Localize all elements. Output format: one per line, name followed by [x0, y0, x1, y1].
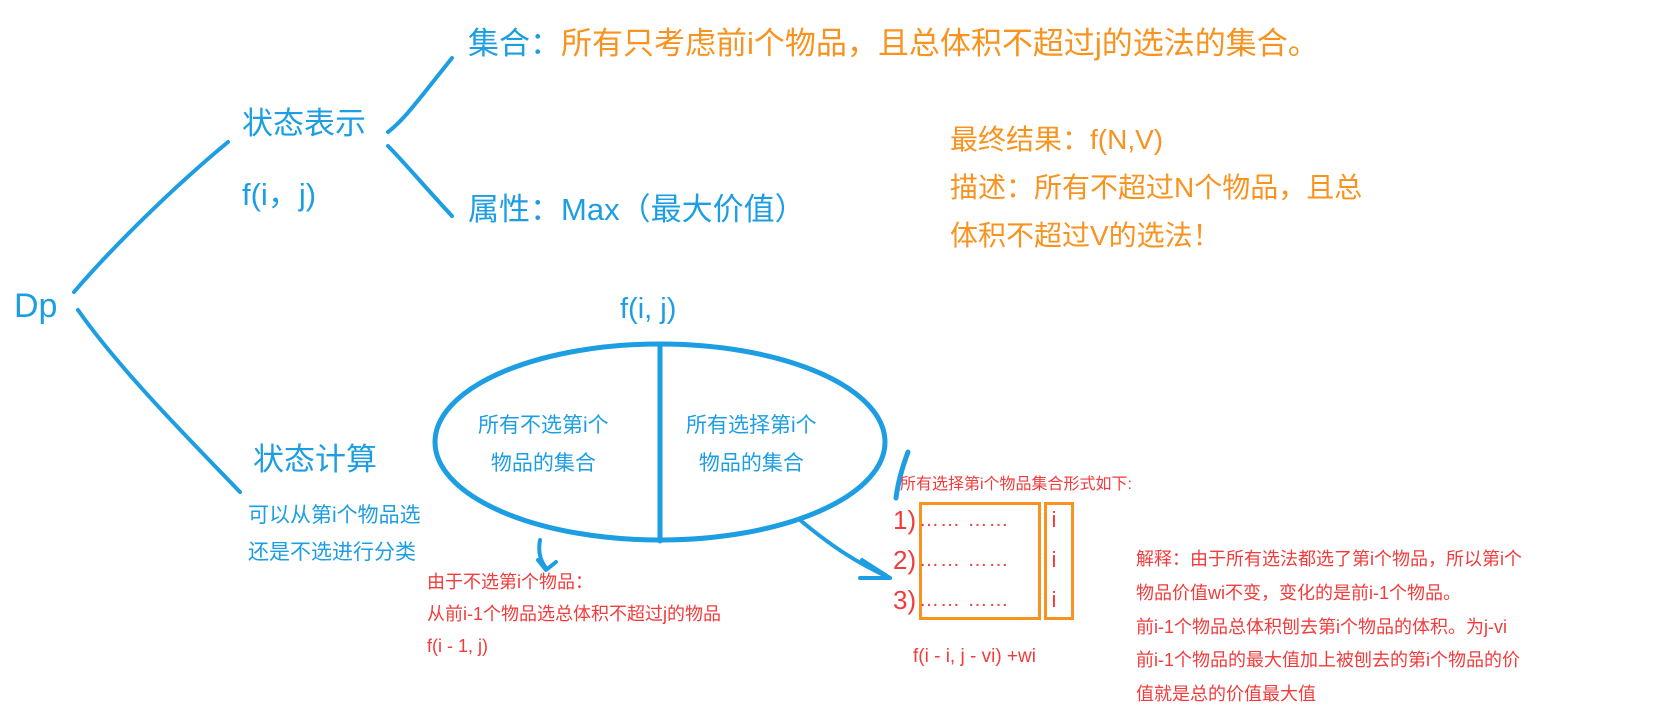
explanation-line-5: 值就是总的价值最大值: [1136, 683, 1522, 707]
choose-panel-title: 所有选择第i个物品集合形式如下:: [900, 474, 1132, 495]
selection-row: 3) …… …… i: [893, 580, 1067, 620]
row-number: 3): [893, 585, 919, 616]
set-definition-value: 所有只考虑前i个物品，且总体积不超过j的选法的集合。: [561, 26, 1319, 61]
state-representation-title: 状态表示: [242, 104, 366, 145]
whiteboard-canvas: Dp 状态表示 f(i，j) 集合：所有只考虑前i个物品，且总体积不超过j的选法…: [0, 0, 1654, 719]
state-calculation-title: 状态计算: [253, 440, 377, 481]
final-result-block: 最终结果：f(N,V) 描述：所有不超过N个物品，且总 体积不超过V的选法！: [950, 122, 1362, 266]
venn-right-label: 所有选择第i个 物品的集合: [686, 412, 817, 487]
row-number: 2): [893, 545, 919, 576]
selection-rows: 1) …… …… i 2) …… …… i 3) …… …… i: [893, 500, 1067, 620]
state-calculation-desc: 可以从第i个物品选 还是不选进行分类: [248, 502, 421, 575]
not-choose-note-line-2: 从前i-1个物品选总体积不超过j的物品: [427, 603, 721, 627]
row-item-i: i: [1041, 587, 1067, 613]
row-dots: …… ……: [919, 589, 1041, 612]
row-item-i: i: [1041, 507, 1067, 533]
explanation-block: 解释：由于所有选法都选了第i个物品，所以第i个 物品价值wi不变，变化的是前i-…: [1136, 548, 1522, 717]
venn-left-label: 所有不选第i个 物品的集合: [478, 412, 609, 487]
venn-left-line-2: 物品的集合: [478, 450, 609, 478]
row-item-i: i: [1041, 547, 1067, 573]
venn-top-label: f(i, j): [620, 290, 676, 328]
row-number: 1): [893, 505, 919, 536]
set-definition-line: 集合：所有只考虑前i个物品，且总体积不超过j的选法的集合。: [468, 24, 1319, 65]
venn-right-line-2: 物品的集合: [686, 450, 817, 478]
final-result-line-3: 体积不超过V的选法！: [950, 218, 1362, 255]
explanation-line-2: 物品价值wi不变，变化的是前i-1个物品。: [1136, 582, 1522, 606]
attribute-line: 属性：Max（最大价值）: [468, 190, 806, 231]
state-calculation-desc-line-1: 可以从第i个物品选: [248, 502, 421, 530]
choose-panel-formula: f(i - i, j - vi) +wi: [913, 644, 1036, 669]
selection-row: 1) …… …… i: [893, 500, 1067, 540]
not-choose-note-line-1: 由于不选第i个物品：: [427, 571, 721, 595]
explanation-line-4: 前i-1个物品的最大值加上被刨去的第i个物品的价: [1136, 649, 1522, 673]
explanation-line-3: 前i-1个物品总体积刨去第i个物品的体积。为j-vi: [1136, 616, 1522, 640]
row-dots: …… ……: [919, 549, 1041, 572]
state-representation-function: f(i，j): [242, 175, 316, 216]
not-choose-note-line-3: f(i - 1, j): [427, 635, 721, 659]
set-definition-prefix: 集合：: [468, 26, 561, 61]
selection-row: 2) …… …… i: [893, 540, 1067, 580]
not-choose-note: 由于不选第i个物品： 从前i-1个物品选总体积不超过j的物品 f(i - 1, …: [427, 571, 721, 666]
row-dots: …… ……: [919, 509, 1041, 532]
venn-right-line-1: 所有选择第i个: [686, 412, 817, 440]
root-node-label: Dp: [14, 284, 57, 329]
final-result-line-1: 最终结果：f(N,V): [950, 122, 1362, 159]
explanation-line-1: 解释：由于所有选法都选了第i个物品，所以第i个: [1136, 548, 1522, 572]
state-calculation-desc-line-2: 还是不选进行分类: [248, 539, 421, 567]
venn-left-line-1: 所有不选第i个: [478, 412, 609, 440]
final-result-line-2: 描述：所有不超过N个物品，且总: [950, 170, 1362, 207]
